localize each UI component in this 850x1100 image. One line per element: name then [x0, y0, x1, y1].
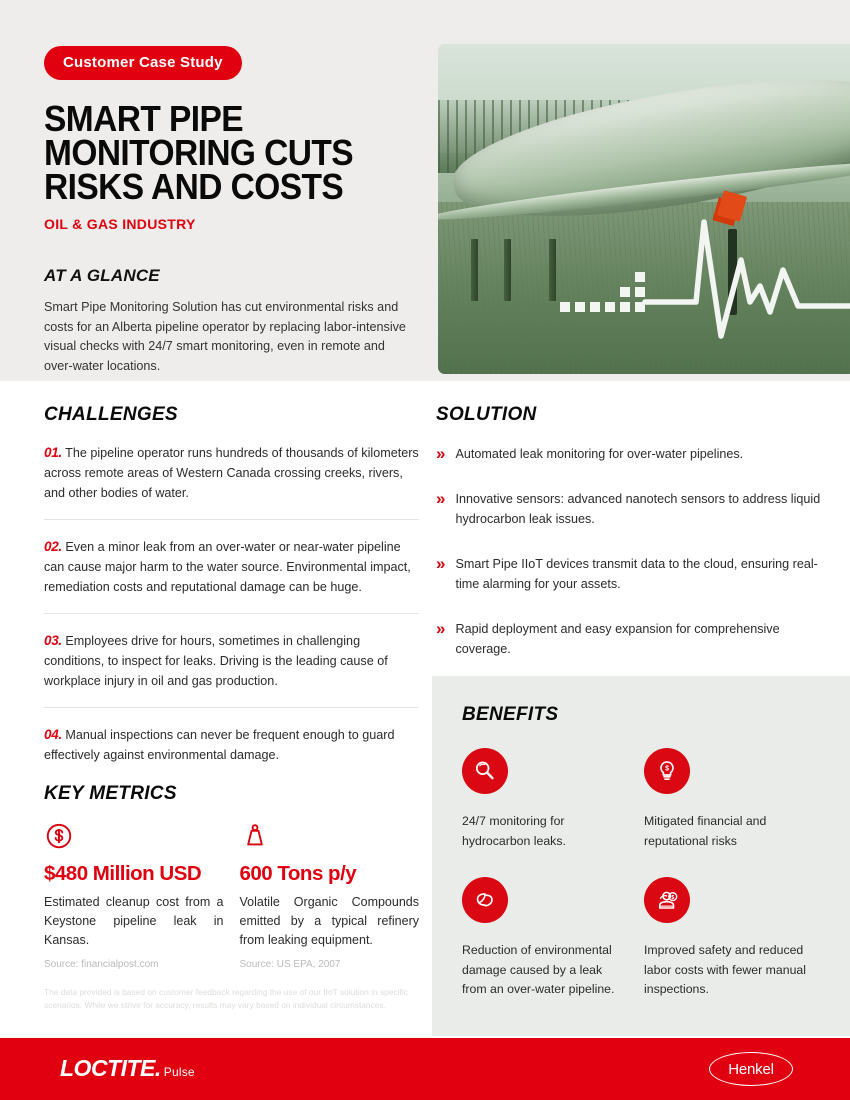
challenge-text: Employees drive for hours, sometimes in … — [44, 634, 388, 688]
benefit-text: Reduction of environmental damage caused… — [462, 941, 628, 1000]
hero-text-block: Customer Case Study SMART PIPE MONITORIN… — [44, 46, 424, 376]
key-metric-source: Source: US EPA, 2007 — [240, 959, 420, 970]
benefit-text: Mitigated financial and reputational ris… — [644, 812, 810, 851]
challenge-item: 03. Employees drive for hours, sometimes… — [44, 614, 419, 708]
solution-item-text: Automated leak monitoring for over-water… — [455, 444, 743, 464]
at-a-glance-body: Smart Pipe Monitoring Solution has cut e… — [44, 298, 416, 376]
key-metric-description: Estimated cleanup cost from a Keystone p… — [44, 893, 224, 950]
challenge-item: 02. Even a minor leak from an over-water… — [44, 520, 419, 614]
solution-item-text: Smart Pipe IIoT devices transmit data to… — [455, 554, 828, 594]
worker-dollar-icon: $ — [654, 887, 680, 913]
benefit-icon-badge: $ — [644, 748, 690, 794]
solution-item: » Rapid deployment and easy expansion fo… — [436, 619, 828, 659]
challenge-number: 01. — [44, 445, 62, 460]
page-title-line-1: SMART PIPE — [44, 102, 397, 136]
henkel-logo: Henkel — [709, 1052, 793, 1086]
key-metric-card: 600 Tons p/y Volatile Organic Compounds … — [240, 821, 420, 970]
disclaimer-text: The data provided is based on customer f… — [44, 986, 416, 1011]
benefit-icon-badge: $ — [644, 877, 690, 923]
double-chevron-right-icon: » — [436, 445, 445, 464]
solution-item: » Automated leak monitoring for over-wat… — [436, 444, 828, 464]
benefit-icon-badge — [462, 877, 508, 923]
benefits-panel: BENEFITS 24/7 monitoring for hydrocarbon… — [432, 676, 850, 1036]
challenge-text: The pipeline operator runs hundreds of t… — [44, 446, 419, 500]
double-chevron-right-icon: » — [436, 490, 445, 529]
case-study-badge: Customer Case Study — [44, 46, 242, 80]
page-title-line-2: MONITORING CUTS — [44, 136, 397, 170]
loctite-wordmark: LOCTITE — [60, 1055, 155, 1082]
page-title: SMART PIPE MONITORING CUTS RISKS AND COS… — [44, 102, 397, 204]
weight-icon — [240, 821, 420, 855]
double-chevron-right-icon: » — [436, 555, 445, 594]
leaf-icon — [472, 887, 498, 913]
benefit-card: $ Mitigated financial and reputational r… — [644, 748, 826, 851]
industry-label: OIL & GAS INDUSTRY — [44, 216, 424, 232]
solution-heading: SOLUTION — [436, 404, 828, 426]
magnifier-icon — [472, 758, 498, 784]
loctite-pulse-logo: LOCTITE . Pulse — [60, 1055, 195, 1082]
dollar-circle-icon — [44, 821, 224, 855]
pulse-wordmark: Pulse — [164, 1065, 195, 1079]
challenges-section: CHALLENGES 01. The pipeline operator run… — [44, 404, 419, 781]
solution-item: » Smart Pipe IIoT devices transmit data … — [436, 554, 828, 594]
loctite-period: . — [155, 1055, 161, 1082]
key-metric-value: 600 Tons p/y — [240, 862, 420, 886]
challenge-text: Manual inspections can never be frequent… — [44, 728, 394, 762]
case-study-page: Customer Case Study SMART PIPE MONITORIN… — [0, 0, 850, 1100]
solution-section: SOLUTION » Automated leak monitoring for… — [436, 404, 828, 684]
solution-item-text: Rapid deployment and easy expansion for … — [455, 619, 828, 659]
solution-item-text: Innovative sensors: advanced nanotech se… — [455, 489, 828, 529]
benefit-card: 24/7 monitoring for hydrocarbon leaks. — [462, 748, 644, 851]
double-chevron-right-icon: » — [436, 620, 445, 659]
lightbulb-dollar-icon: $ — [654, 758, 680, 784]
at-a-glance-heading: AT A GLANCE — [44, 266, 424, 286]
challenge-item: 04. Manual inspections can never be freq… — [44, 708, 419, 781]
pulse-waveform-icon — [438, 44, 850, 374]
henkel-wordmark: Henkel — [728, 1061, 774, 1078]
benefit-text: 24/7 monitoring for hydrocarbon leaks. — [462, 812, 628, 851]
challenge-item: 01. The pipeline operator runs hundreds … — [44, 426, 419, 520]
footer-bar: LOCTITE . Pulse Henkel — [0, 1038, 850, 1100]
key-metric-source: Source: financialpost.com — [44, 959, 224, 970]
benefits-heading: BENEFITS — [462, 704, 826, 726]
challenge-number: 04. — [44, 727, 62, 742]
benefit-card: $ Improved safety and reduced labor cost… — [644, 877, 826, 1000]
hero-pipeline-image — [438, 44, 850, 374]
benefit-icon-badge — [462, 748, 508, 794]
challenge-number: 03. — [44, 633, 62, 648]
page-title-line-3: RISKS AND COSTS — [44, 170, 397, 204]
solution-item: » Innovative sensors: advanced nanotech … — [436, 489, 828, 529]
benefit-text: Improved safety and reduced labor costs … — [644, 941, 810, 1000]
key-metric-value: $480 Million USD — [44, 862, 224, 886]
key-metrics-heading: KEY METRICS — [44, 783, 419, 805]
challenges-heading: CHALLENGES — [44, 404, 419, 426]
challenge-text: Even a minor leak from an over-water or … — [44, 540, 411, 594]
key-metric-card: $480 Million USD Estimated cleanup cost … — [44, 821, 224, 970]
benefit-card: Reduction of environmental damage caused… — [462, 877, 644, 1000]
key-metrics-section: KEY METRICS $480 Million USD Estimated c… — [44, 783, 419, 970]
svg-text:$: $ — [665, 765, 669, 772]
key-metric-description: Volatile Organic Compounds emitted by a … — [240, 893, 420, 950]
challenge-number: 02. — [44, 539, 62, 554]
